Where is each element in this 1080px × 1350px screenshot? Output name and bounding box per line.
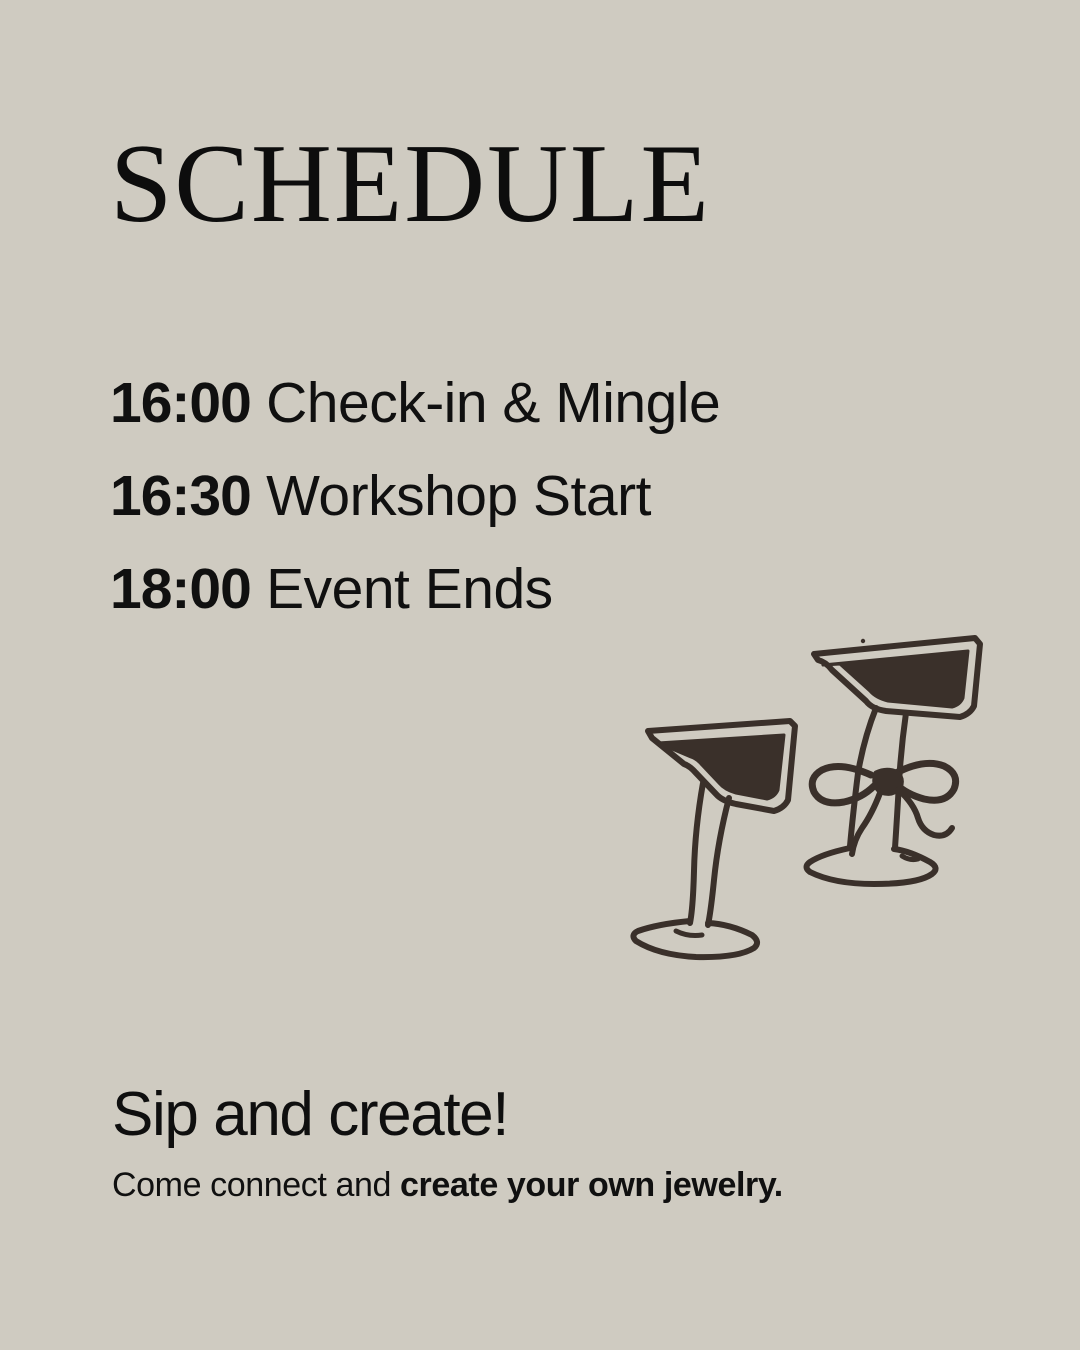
footer-subtitle-lead: Come connect and: [112, 1166, 400, 1204]
footer-block: Sip and create! Come connect and create …: [112, 1082, 992, 1206]
schedule-time: 16:00: [110, 371, 251, 435]
page-title: SCHEDULE: [110, 128, 711, 240]
schedule-row: 16:00 Check-in & Mingle: [110, 357, 950, 450]
schedule-list: 16:00 Check-in & Mingle 16:30 Workshop S…: [110, 357, 950, 636]
schedule-label: Workshop Start: [266, 464, 651, 528]
footer-subtitle-emphasis: create your own jewelry.: [400, 1166, 783, 1204]
right-coupe-glass: [807, 638, 981, 884]
schedule-row: 16:30 Workshop Start: [110, 450, 950, 543]
footer-subtitle: Come connect and create your own jewelry…: [112, 1165, 992, 1206]
footer-heading: Sip and create!: [112, 1082, 992, 1147]
schedule-label: Event Ends: [266, 557, 553, 621]
left-coupe-glass: [633, 721, 795, 957]
schedule-time: 18:00: [110, 557, 251, 621]
cocktail-glasses-illustration: [618, 618, 1008, 983]
schedule-label: Check-in & Mingle: [266, 371, 720, 435]
schedule-poster: SCHEDULE 16:00 Check-in & Mingle 16:30 W…: [0, 0, 1080, 1350]
schedule-time: 16:30: [110, 464, 251, 528]
cocktail-glasses-svg: [618, 618, 1008, 983]
